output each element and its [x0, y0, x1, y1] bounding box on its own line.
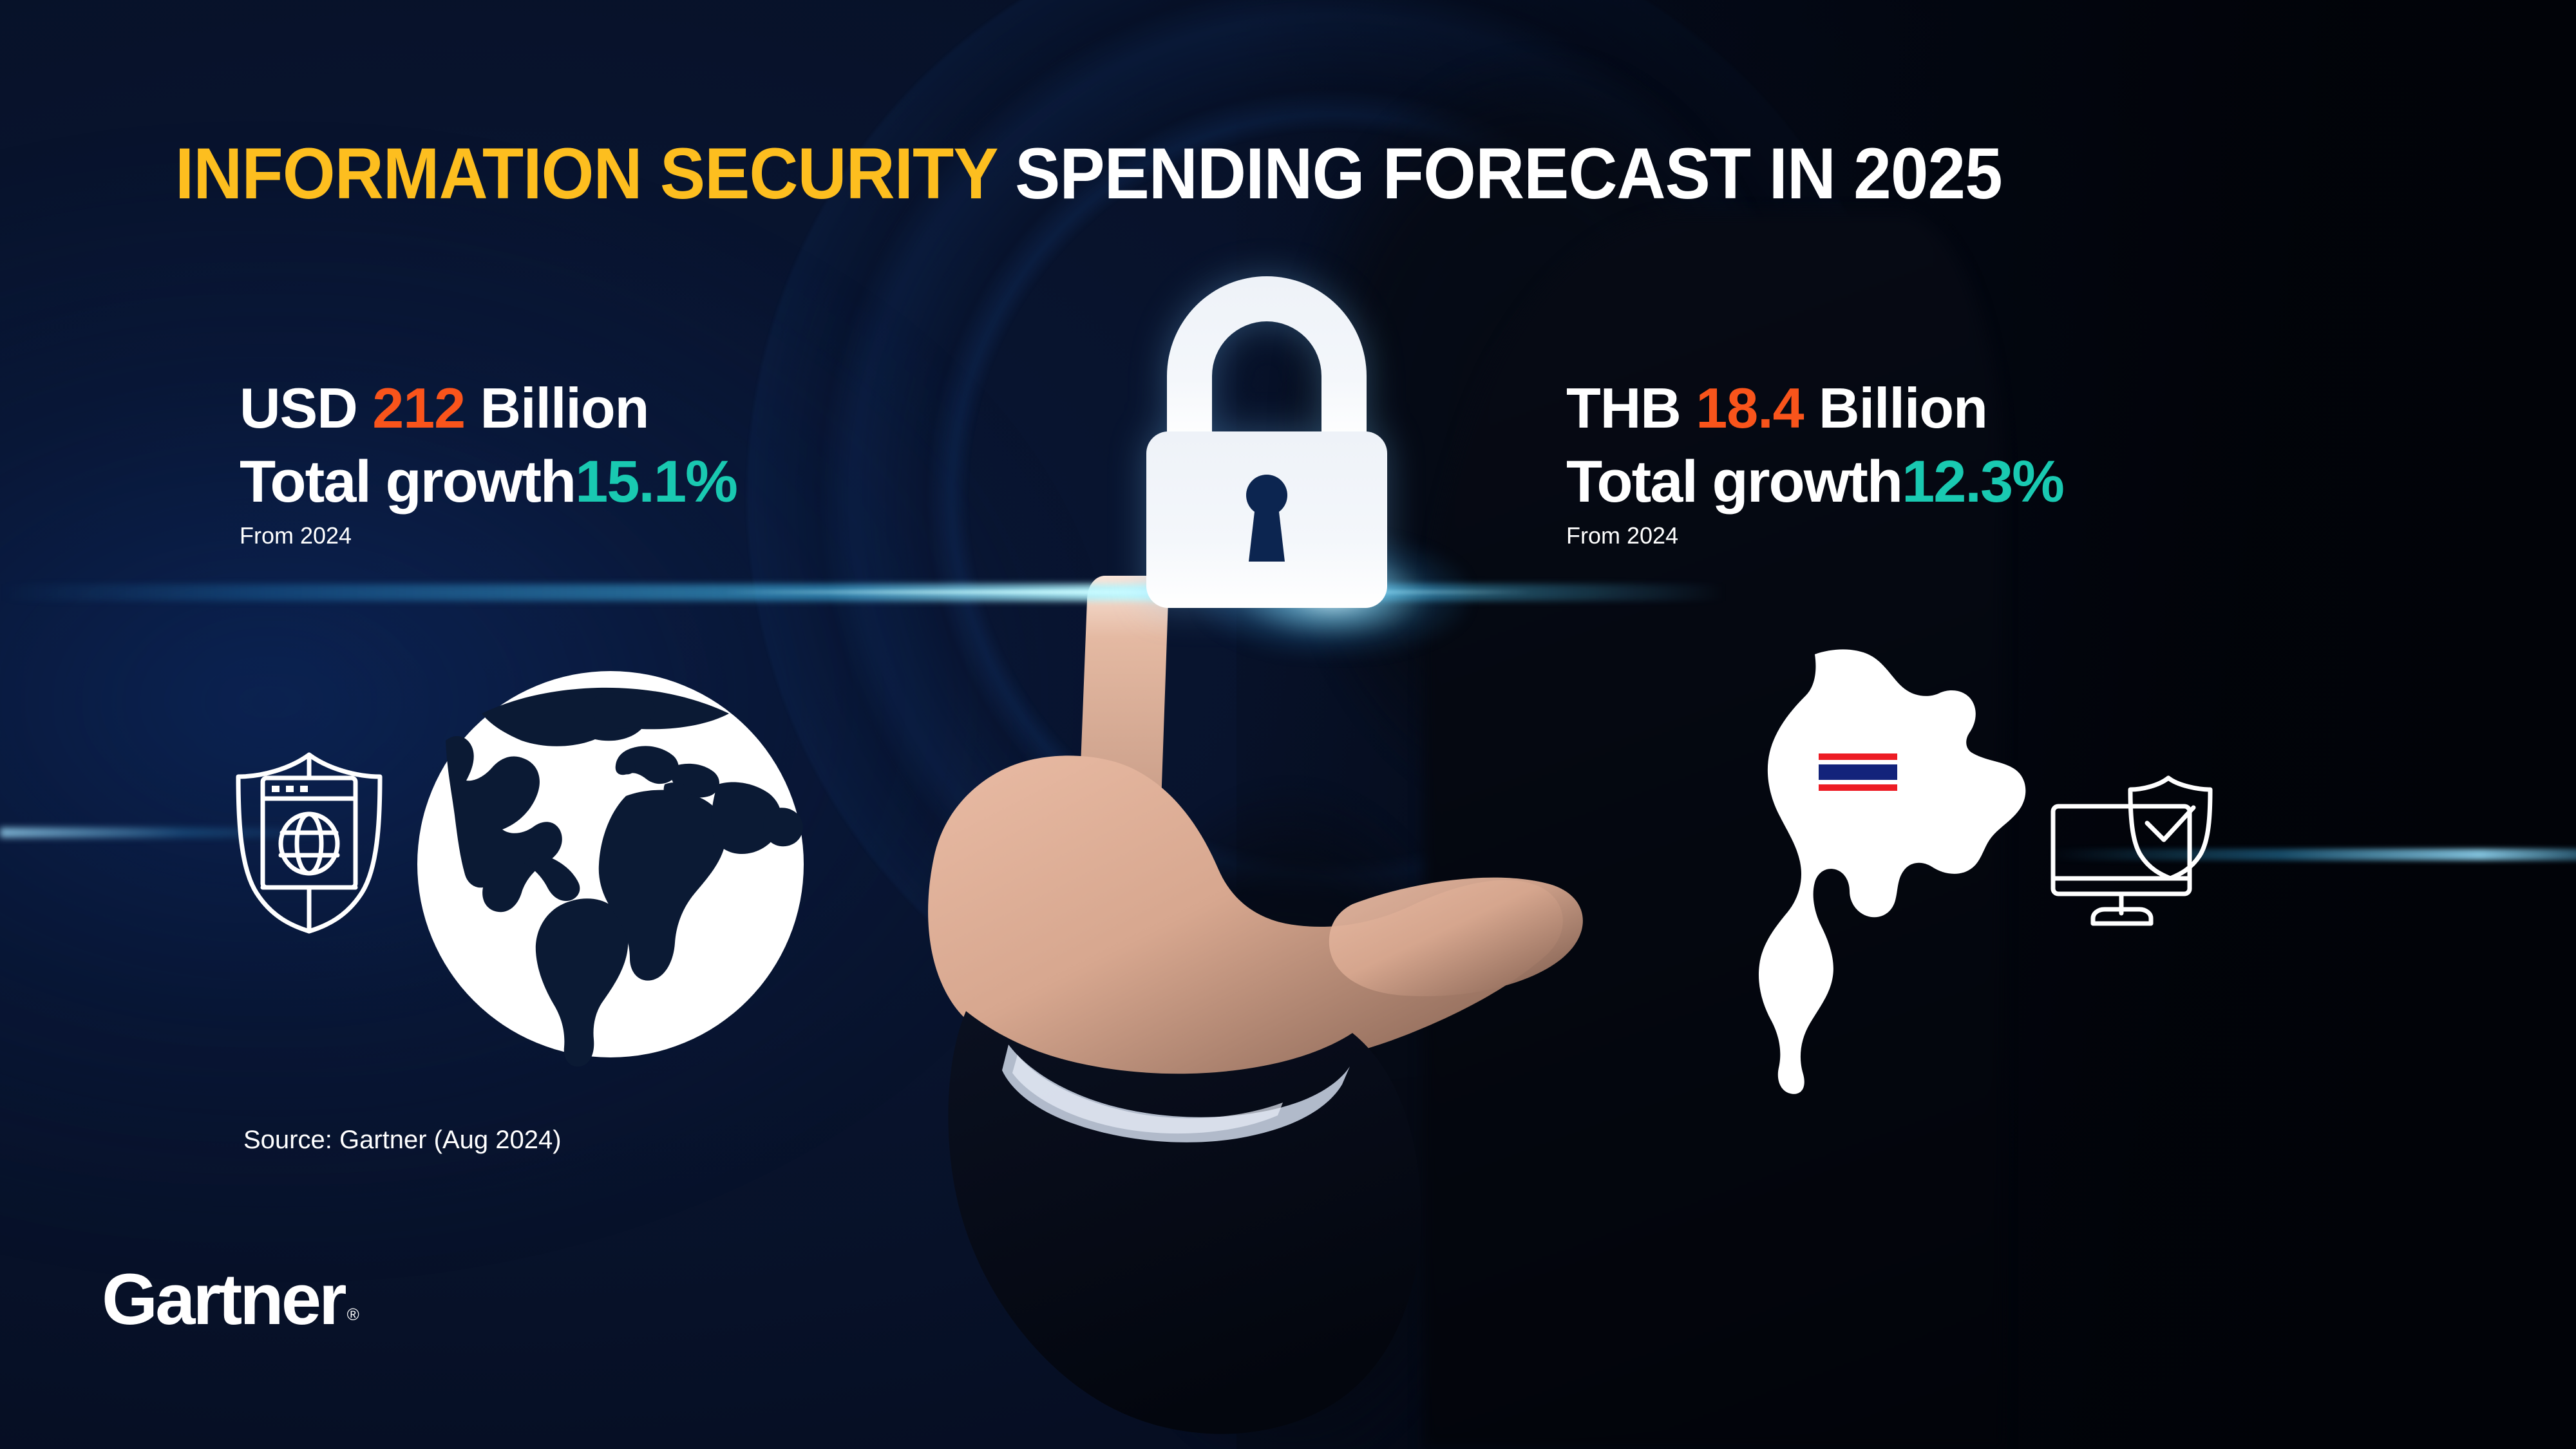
growth-value: 12.3% — [1902, 449, 2063, 515]
growth-value: 15.1% — [575, 449, 737, 515]
stat-block-global: USD 212 Billion Total growth15.1% From 2… — [240, 380, 737, 547]
hand-pointing-icon — [902, 567, 1662, 1449]
source-note: Source: Gartner (Aug 2024) — [243, 1126, 562, 1155]
title-rest: SPENDING FORECAST IN 2025 — [997, 133, 2002, 214]
thailand-map-icon — [1739, 644, 2041, 1095]
stat-growth-line: Total growth12.3% — [1566, 452, 2063, 511]
stat-amount-line: USD 212 Billion — [240, 380, 737, 437]
padlock-icon — [1122, 273, 1412, 608]
unit-label: Billion — [1819, 376, 1987, 440]
shield-web-icon — [213, 741, 406, 934]
growth-label: Total growth — [240, 449, 575, 515]
amount-value: 212 — [372, 376, 465, 440]
stat-baseline: From 2024 — [240, 524, 737, 547]
thailand-flag — [1819, 753, 1897, 791]
globe-icon — [404, 658, 817, 1070]
registered-mark-icon: ® — [347, 1305, 359, 1324]
stat-amount-line: THB 18.4 Billion — [1566, 380, 2063, 437]
title-highlight: INFORMATION SECURITY — [175, 133, 997, 214]
currency-label: THB — [1566, 376, 1681, 440]
logo-wordmark: Gartner — [102, 1259, 345, 1340]
amount-value: 18.4 — [1696, 376, 1803, 440]
monitor-shield-icon — [2048, 752, 2241, 934]
stat-growth-line: Total growth15.1% — [240, 452, 737, 511]
gartner-logo: Gartner® — [102, 1264, 359, 1336]
page-title: INFORMATION SECURITY SPENDING FORECAST I… — [175, 138, 2002, 210]
unit-label: Billion — [480, 376, 649, 440]
currency-label: USD — [240, 376, 357, 440]
stat-block-thailand: THB 18.4 Billion Total growth12.3% From … — [1566, 380, 2063, 547]
stat-baseline: From 2024 — [1566, 524, 2063, 547]
growth-label: Total growth — [1566, 449, 1902, 515]
infographic-canvas: INFORMATION SECURITY SPENDING FORECAST I… — [0, 0, 2576, 1449]
